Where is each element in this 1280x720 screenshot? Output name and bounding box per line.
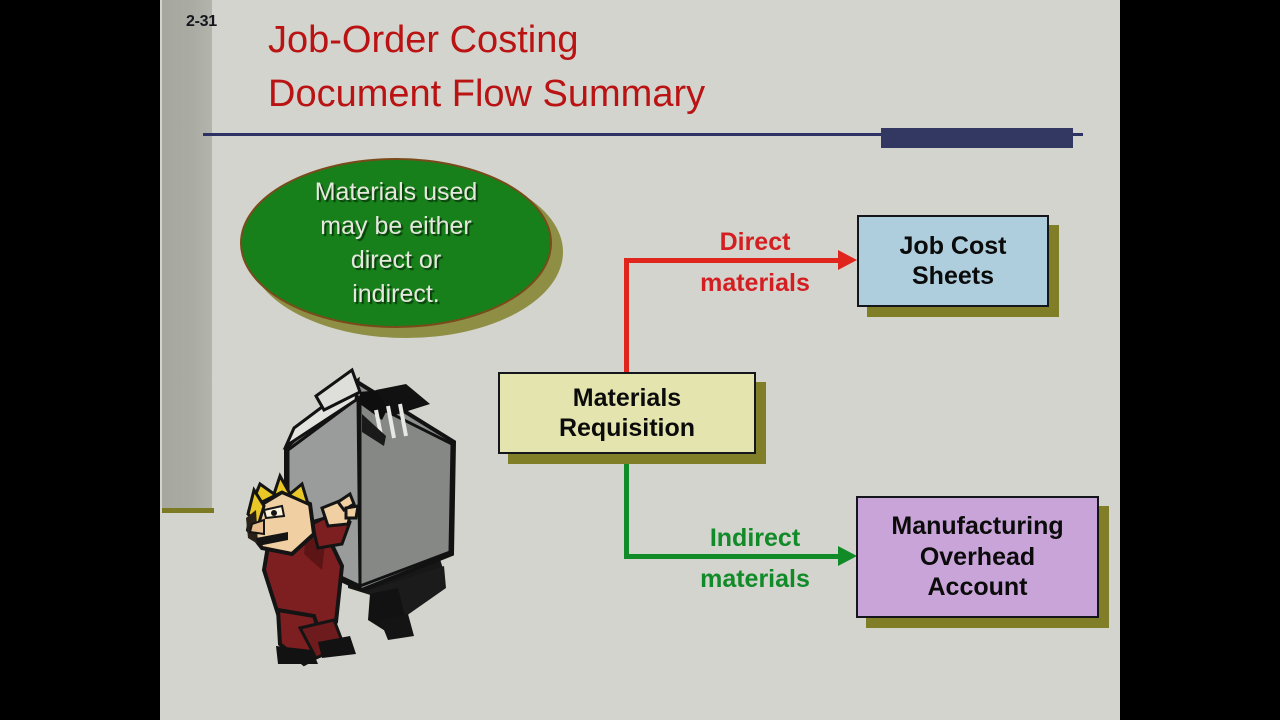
manufacturing-overhead-line-2: Overhead — [920, 542, 1035, 573]
direct-materials-label-line-2: materials — [660, 263, 850, 304]
job-cost-sheets-line-1: Job Cost — [900, 231, 1007, 262]
presentation-slide: 2-31 Job-Order Costing Document Flow Sum… — [160, 0, 1120, 720]
page-title: Job-Order Costing Document Flow Summary — [268, 14, 1028, 122]
page-title-line-1: Job-Order Costing — [268, 14, 1028, 68]
materials-requisition-line-1: Materials — [573, 383, 681, 414]
materials-requisition-line-2: Requisition — [559, 413, 695, 444]
direct-materials-label-line-1: Direct — [660, 222, 850, 263]
manufacturing-overhead-line-1: Manufacturing — [891, 511, 1063, 542]
job-cost-sheets-line-2: Sheets — [912, 261, 994, 292]
left-band-end-cap — [162, 508, 214, 513]
callout-line-2: may be either — [320, 209, 471, 243]
indirect-materials-label-line-1: Indirect — [660, 518, 850, 559]
callout-ellipse-text: Materials used may be either direct or i… — [240, 158, 552, 328]
callout-line-4: indirect. — [352, 277, 440, 311]
callout-line-1: Materials used — [315, 175, 478, 209]
indirect-materials-connector-vertical — [624, 452, 629, 559]
indirect-materials-label: Indirect materials — [660, 518, 850, 599]
direct-materials-connector-vertical — [624, 258, 629, 376]
screen: 2-31 Job-Order Costing Document Flow Sum… — [0, 0, 1280, 720]
manufacturing-overhead-line-3: Account — [928, 572, 1028, 603]
left-decorative-band — [162, 0, 212, 512]
materials-requisition-box: Materials Requisition — [498, 372, 756, 454]
page-title-line-2: Document Flow Summary — [268, 68, 1028, 122]
indirect-materials-label-line-2: materials — [660, 559, 850, 600]
callout-line-3: direct or — [351, 243, 441, 277]
direct-materials-label: Direct materials — [660, 222, 850, 303]
title-divider-accent-bar — [881, 128, 1073, 148]
slide-number: 2-31 — [186, 13, 217, 31]
man-carrying-crate-clipart — [230, 358, 470, 670]
manufacturing-overhead-box: Manufacturing Overhead Account — [856, 496, 1099, 618]
job-cost-sheets-box: Job Cost Sheets — [857, 215, 1049, 307]
